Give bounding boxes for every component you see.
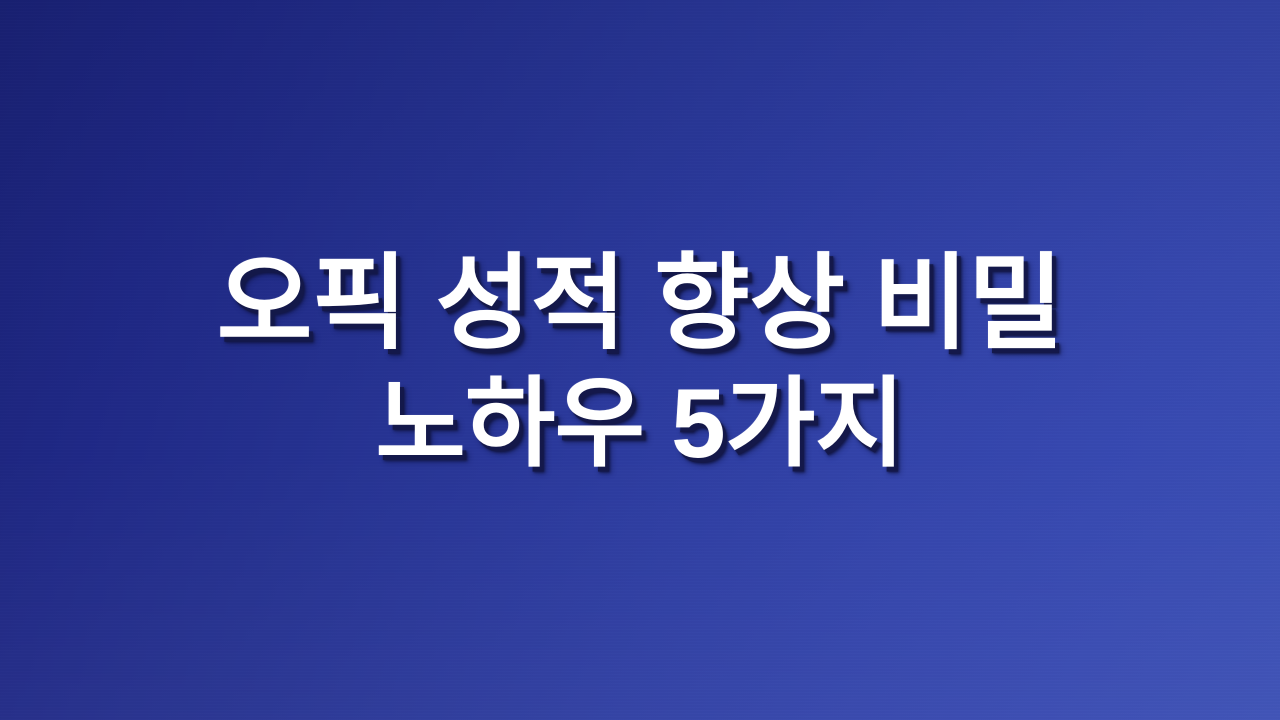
title-block: 오픽 성적 향상 비밀 노하우 5가지 [0, 245, 1280, 479]
title-card-canvas: 오픽 성적 향상 비밀 노하우 5가지 [0, 0, 1280, 720]
title-line-secondary: 노하우 5가지 [0, 367, 1280, 479]
title-line-primary: 오픽 성적 향상 비밀 [0, 245, 1280, 363]
